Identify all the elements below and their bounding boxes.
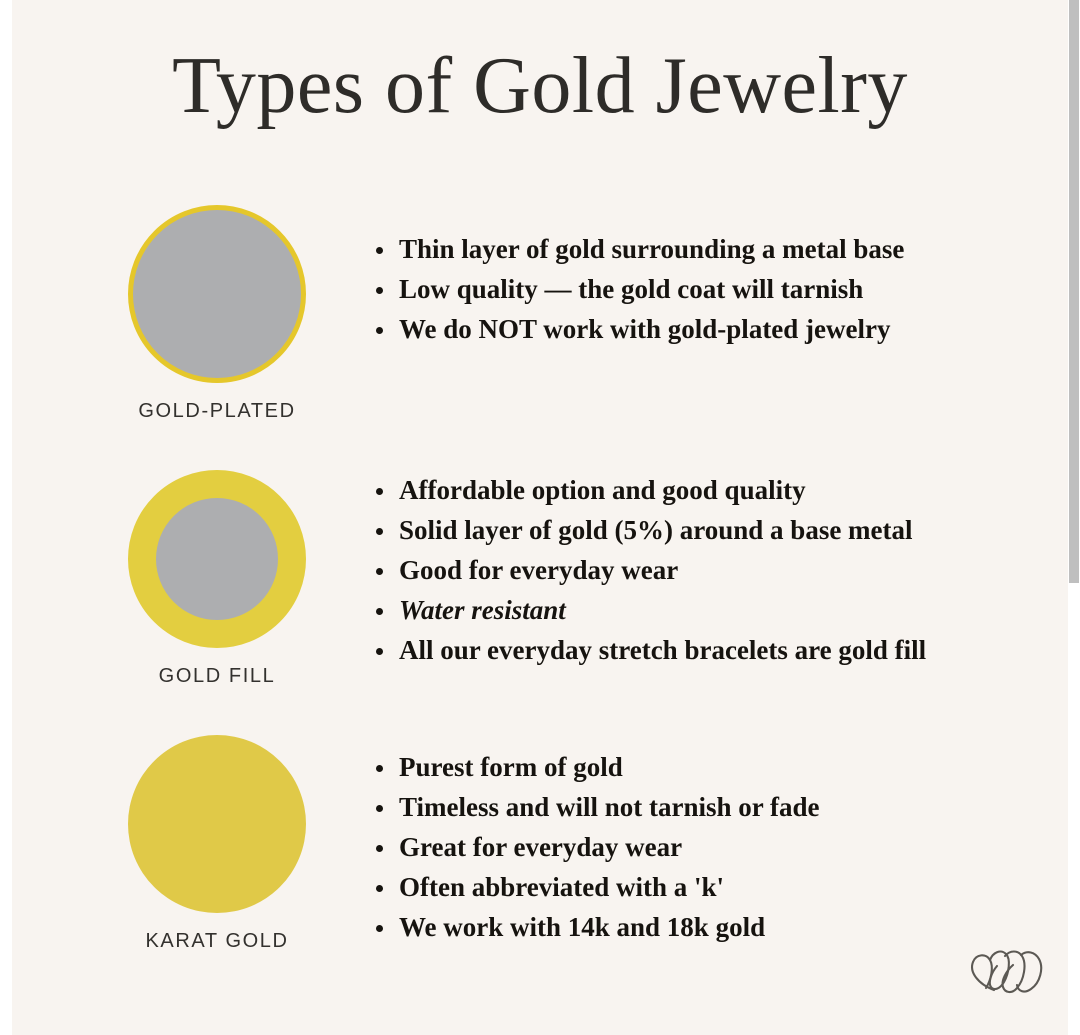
- bullet-list-gold-fill: Affordable option and good quality Solid…: [370, 470, 1060, 670]
- list-item: Solid layer of gold (5%) around a base m…: [370, 510, 1060, 550]
- list-item: Purest form of gold: [370, 747, 1060, 787]
- gold-plated-swatch-icon: [128, 205, 306, 383]
- screenshot-viewport: Types of Gold Jewelry GOLD-PLATED Thin l…: [0, 0, 1080, 1035]
- swatch-column-gold-plated: GOLD-PLATED: [122, 205, 312, 423]
- list-item: Water resistant: [370, 590, 1060, 630]
- swatch-label-gold-plated: GOLD-PLATED: [122, 400, 312, 423]
- brand-logo-icon: [964, 940, 1056, 1002]
- infographic-canvas: Types of Gold Jewelry GOLD-PLATED Thin l…: [12, 0, 1068, 1035]
- gold-fill-swatch-icon: [128, 470, 306, 648]
- list-item: We do NOT work with gold-plated jewelry: [370, 309, 1060, 349]
- scrollbar-thumb[interactable]: [1069, 0, 1079, 583]
- swatch-label-gold-fill: GOLD FILL: [122, 665, 312, 688]
- bullet-list-karat-gold: Purest form of gold Timeless and will no…: [370, 747, 1060, 947]
- list-item: All our everyday stretch bracelets are g…: [370, 630, 1060, 670]
- list-item: Affordable option and good quality: [370, 470, 1060, 510]
- list-item: Good for everyday wear: [370, 550, 1060, 590]
- list-item: We work with 14k and 18k gold: [370, 907, 1060, 947]
- scrollbar-track[interactable]: [1068, 0, 1080, 1035]
- swatch-label-karat-gold: KARAT GOLD: [122, 930, 312, 953]
- list-item: Often abbreviated with a 'k': [370, 867, 1060, 907]
- list-item: Thin layer of gold surrounding a metal b…: [370, 229, 1060, 269]
- list-item: Timeless and will not tarnish or fade: [370, 787, 1060, 827]
- list-item: Low quality — the gold coat will tarnish: [370, 269, 1060, 309]
- bullet-list-gold-plated: Thin layer of gold surrounding a metal b…: [370, 229, 1060, 349]
- list-item: Great for everyday wear: [370, 827, 1060, 867]
- swatch-column-karat-gold: KARAT GOLD: [122, 735, 312, 953]
- swatch-column-gold-fill: GOLD FILL: [122, 470, 312, 688]
- page-title: Types of Gold Jewelry: [12, 44, 1068, 128]
- karat-gold-swatch-icon: [128, 735, 306, 913]
